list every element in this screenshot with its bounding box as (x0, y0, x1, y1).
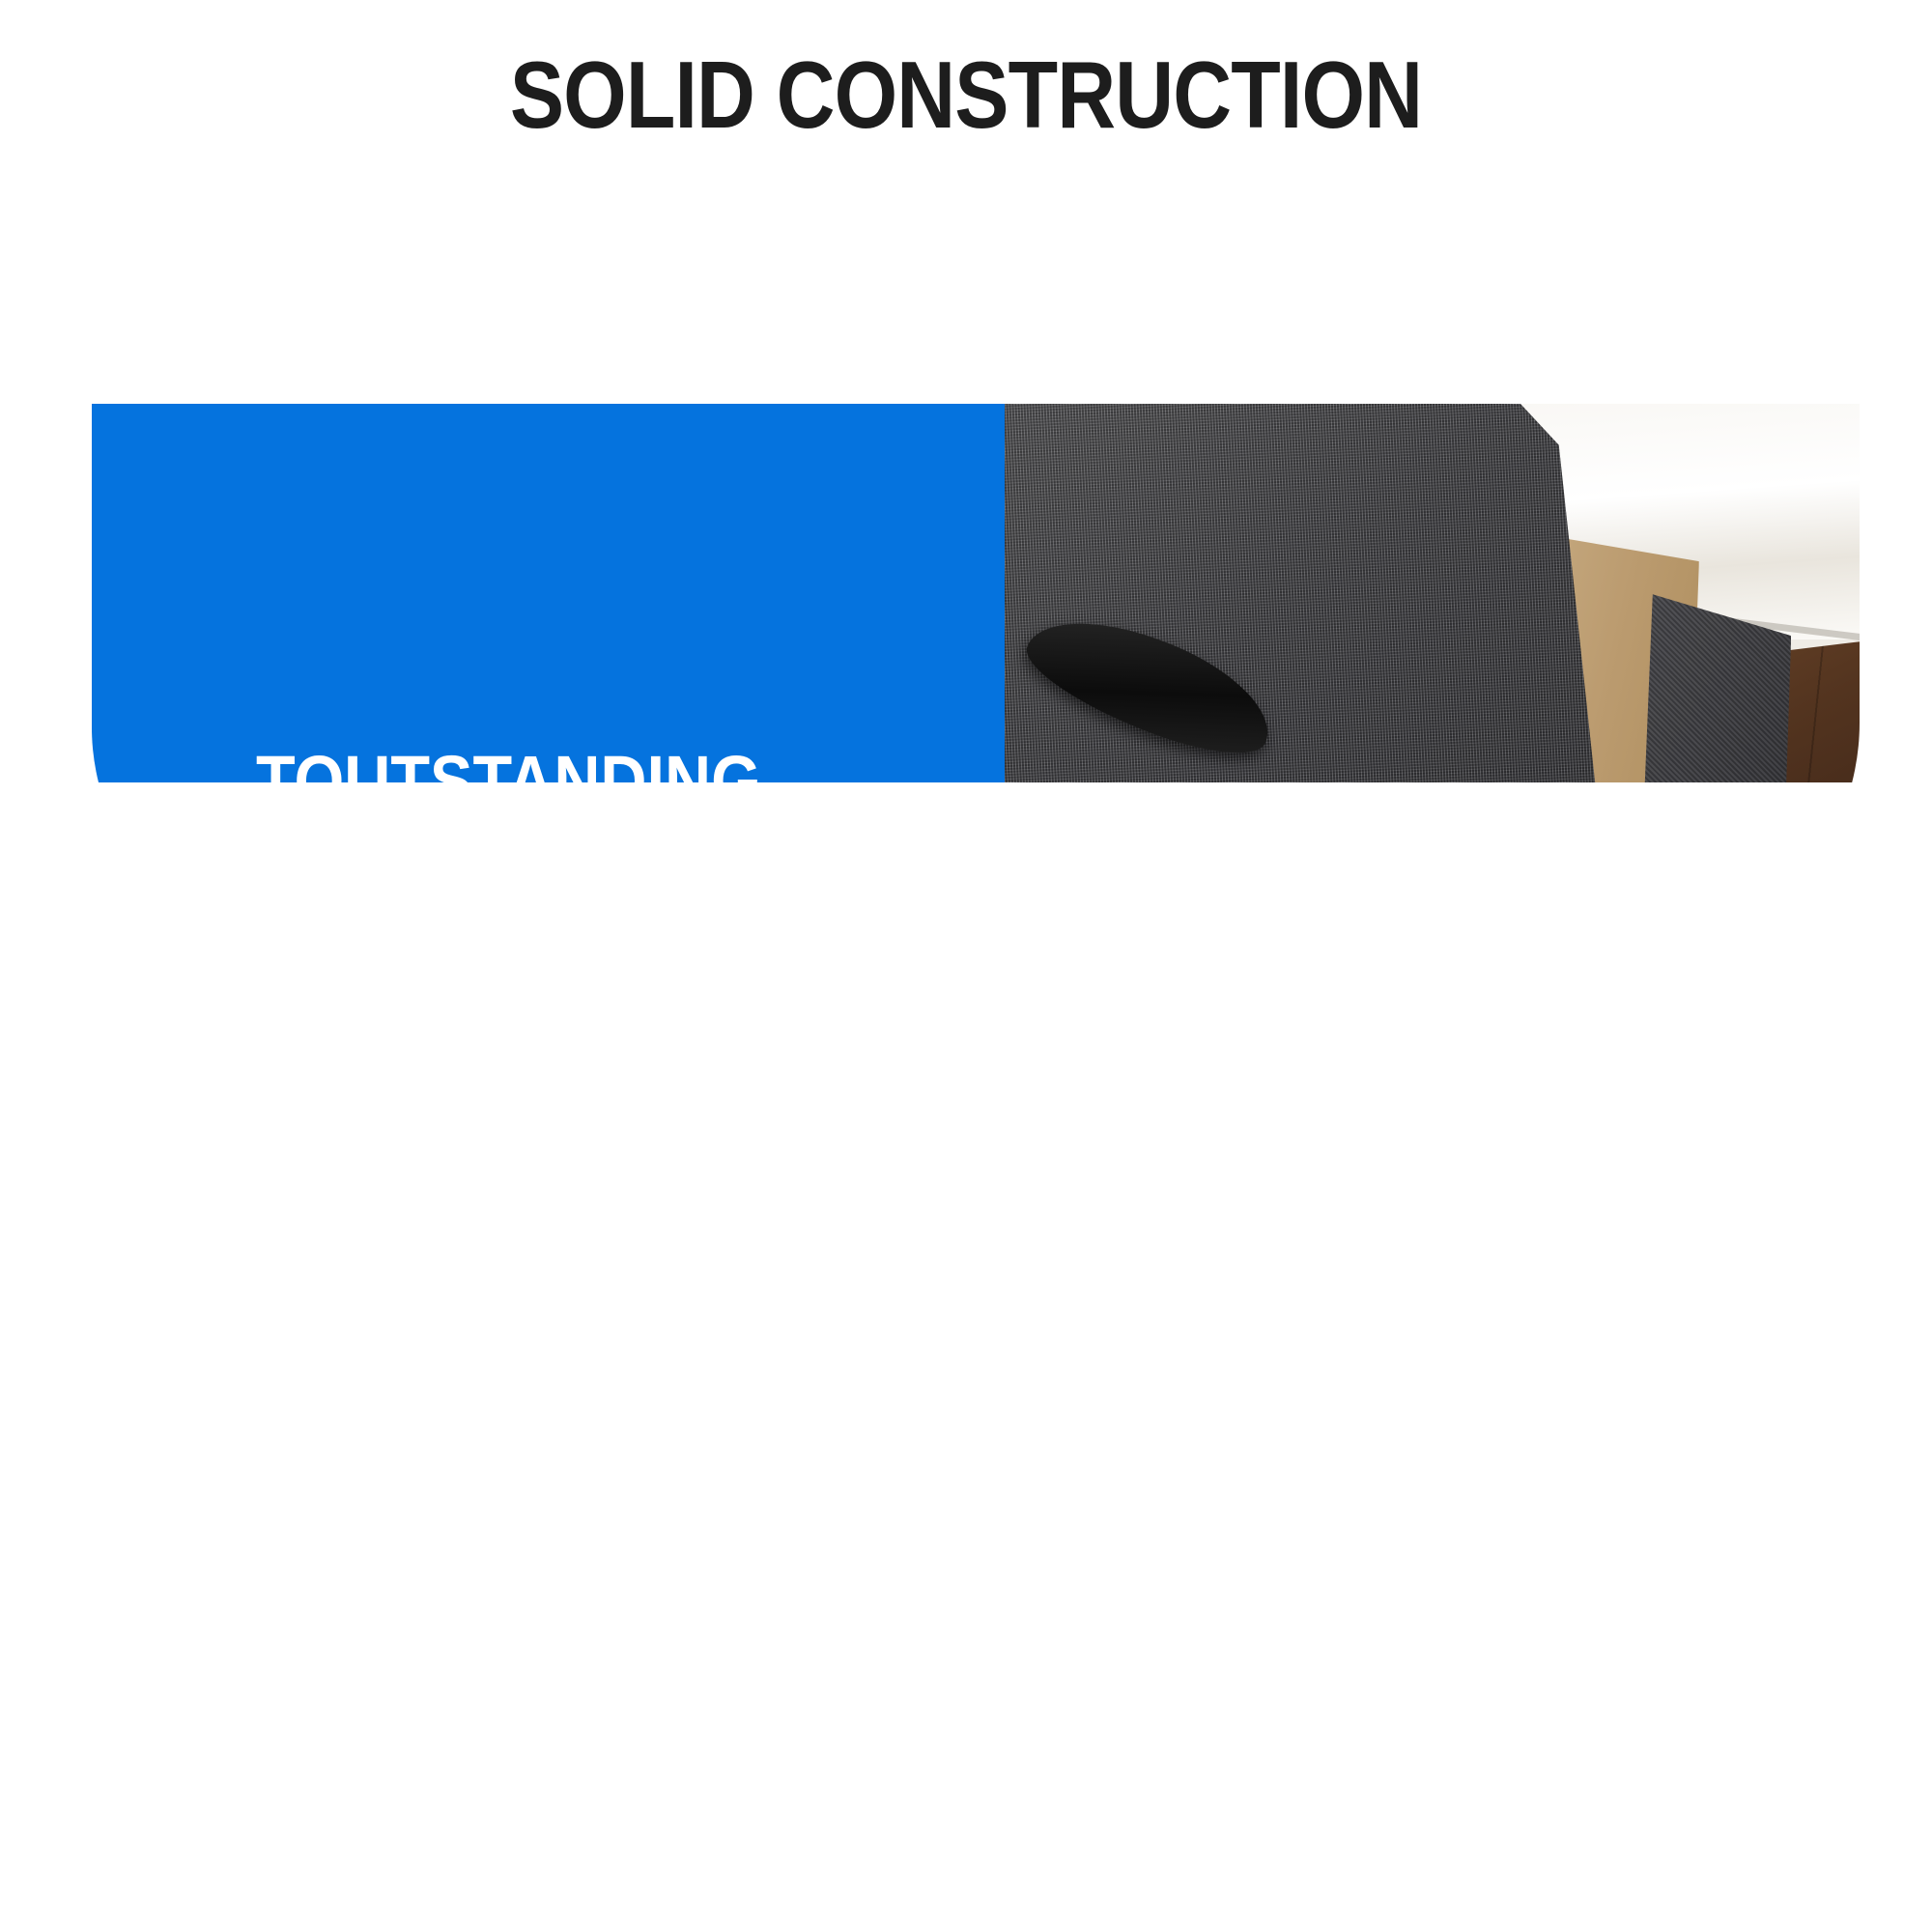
feature-panel-outstanding-quality: TOUTSTANDING QUALITY (0, 193, 1932, 782)
drawer-fabric-peel-photo (1005, 404, 1860, 782)
feature-panel-abrasion-resistance: ABRASION RESISTANCE (0, 763, 1932, 1352)
feature-1-text-block: TOUTSTANDING QUALITY (92, 404, 1014, 782)
feature-panel-adjustable-feet: ADJUSTABLE FEET (0, 1352, 1932, 1932)
infographic-root: SOLID CONSTRUCTION TOUTSTANDING QUALITY (0, 0, 1932, 1932)
page-title: SOLID CONSTRUCTION (135, 41, 1797, 150)
